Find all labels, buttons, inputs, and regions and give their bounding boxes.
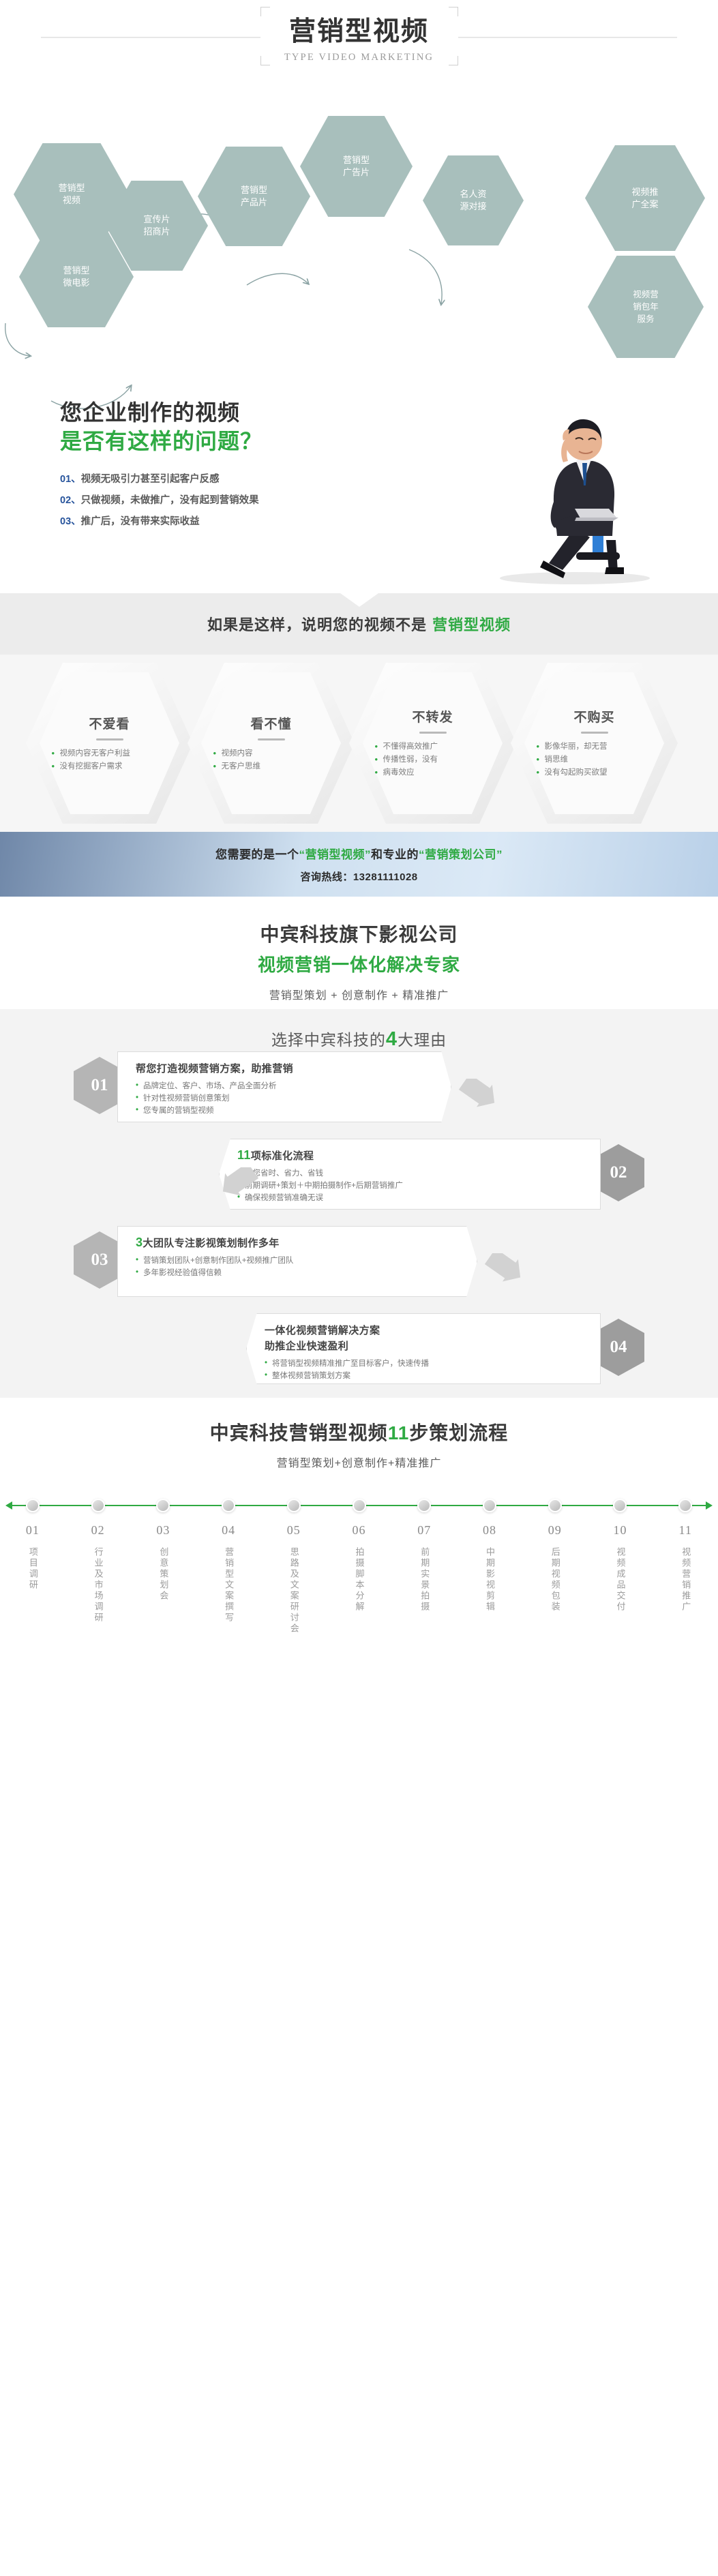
reason-title: 11项标准化流程	[237, 1148, 585, 1163]
timeline-step-label: 中期影视剪辑	[483, 1547, 496, 1613]
timeline-dot-icon	[91, 1499, 105, 1512]
timeline-step-number: 07	[391, 1523, 457, 1538]
card-divider	[419, 732, 447, 734]
reason-title-text: 大团队专注影视策划制作多年	[143, 1238, 279, 1249]
reason-card-03[interactable]: 3大团队专注影视策划制作多年 营销策划团队+创意制作团队+视频推广团队 多年影视…	[117, 1226, 477, 1297]
reason-bullet: 营销策划团队+创意制作团队+视频推广团队	[136, 1255, 462, 1267]
card-title: 不转发	[375, 707, 491, 725]
timeline-step-number: 06	[327, 1523, 392, 1538]
steps-title-b: 步策划流程	[409, 1422, 508, 1443]
flow-arrow-down-right-icon	[484, 1253, 526, 1293]
reason-title-count: 3	[136, 1235, 143, 1249]
timeline-step-label: 项目调研	[26, 1547, 40, 1591]
timeline-step-number: 10	[588, 1523, 653, 1538]
card-bullet: 无客户思维	[213, 760, 329, 773]
page-title: 营销型视频	[260, 7, 458, 51]
hex-label-line1: 视频营	[633, 288, 659, 301]
card-bullet: 传播性弱，没有	[375, 753, 491, 766]
hex-label-line1: 营销型	[241, 184, 267, 196]
problem-title-line2: 是否有这样的问题？	[60, 424, 263, 455]
steps-title: 中宾科技营销型视频11步策划流程	[0, 1418, 718, 1446]
problem-list-item: 03、推广后，没有带来实际收益	[60, 511, 259, 533]
timeline-step-label: 思路及文案研讨会	[287, 1547, 301, 1634]
card-divider	[581, 732, 608, 734]
timeline-step-label: 前期实景拍摄	[417, 1547, 431, 1613]
problem-cards-section: 不爱看 视频内容无客户利益 没有挖掘客户需求 看不懂 视频内容 无客户思维 不转…	[0, 655, 718, 832]
hex-cluster-section: 营销型 视频 宣传片 招商片 营销型 产品片 营销型 广告片 名人资	[0, 102, 718, 375]
cta-quote-video: “营销型视频”	[299, 848, 372, 861]
hex-label-line1: 名人资	[460, 188, 486, 200]
timeline-step-number: 11	[653, 1523, 718, 1538]
timeline-step-label: 视频成品交付	[613, 1547, 627, 1613]
problem-list-item: 02、只做视频，未做推广，没有起到营销效果	[60, 490, 259, 511]
problem-item-number: 02、	[60, 495, 81, 506]
hex-label-line1: 营销型	[343, 154, 370, 166]
card-title: 不购买	[537, 707, 653, 725]
problem-item-text: 只做视频，未做推广，没有起到营销效果	[81, 495, 259, 506]
card-bullet: 视频内容无客户利益	[52, 747, 168, 760]
reasons-section: 选择中宾科技的4大理由 01 帮您打造视频营销方案，助推营销 品牌定位、客户、市…	[0, 1009, 718, 1398]
timeline-dot-icon	[222, 1499, 235, 1512]
card-bullet: 没有挖掘客户需求	[52, 760, 168, 773]
timeline-step-number: 05	[261, 1523, 327, 1538]
timeline-step-label: 营销型文案撰写	[222, 1547, 235, 1623]
intro-subtitle: 营销型策划 + 创意制作 + 精准推广	[0, 986, 718, 1002]
reason-row-03: 03 3大团队专注影视策划制作多年 营销策划团队+创意制作团队+视频推广团队 多…	[0, 1226, 718, 1306]
reason-row-02: 02 11项标准化流程 帮您省时、省力、省钱 前期调研+策划＋中期拍摄制作+后期…	[0, 1139, 718, 1219]
timeline-step[interactable]: 07 前期实景拍摄	[391, 1499, 457, 1638]
reason-title: 一体化视频营销解决方案	[265, 1323, 585, 1337]
hex-label-line2: 销包年	[633, 301, 659, 313]
hex-label-line2: 视频	[58, 194, 85, 207]
timeline-dot-icon	[483, 1499, 496, 1512]
timeline-step-label: 后期视频包装	[548, 1547, 562, 1613]
reasons-heading-count: 4	[386, 1028, 398, 1050]
reason-card-02[interactable]: 11项标准化流程 帮您省时、省力、省钱 前期调研+策划＋中期拍摄制作+后期营销推…	[219, 1139, 601, 1210]
page-subtitle-en: TYPE VIDEO MARKETING	[260, 51, 458, 63]
hex-label-line1: 营销型	[63, 265, 89, 277]
reason-card-04[interactable]: 一体化视频营销解决方案 助推企业快速盈利 将营销型视频精准推广至目标客户，快速传…	[246, 1313, 601, 1384]
card-bullet-cont: 病毒效应	[375, 766, 491, 779]
timeline-step-number: 04	[196, 1523, 261, 1538]
reasons-heading-a: 选择中宾科技的	[271, 1031, 386, 1049]
cta-text-a: 您需要的是一个	[215, 848, 299, 861]
reason-bullet: 多年影视经验值得信赖	[136, 1267, 462, 1279]
timeline-dot-icon	[287, 1499, 301, 1512]
page-header: 营销型视频 TYPE VIDEO MARKETING	[0, 0, 718, 102]
marketing-landing-page: 营销型视频 TYPE VIDEO MARKETING 营销型 视频	[0, 0, 718, 1671]
reason-row-04: 04 一体化视频营销解决方案 助推企业快速盈利 将营销型视频精准推广至目标客户，…	[0, 1313, 718, 1394]
timeline-items: 01 项目调研 02 行业及市场调研 03 创意策划会 04 营销型文案撰写	[0, 1499, 718, 1638]
reason-bullet: 品牌定位、客户、市场、产品全面分析	[136, 1080, 436, 1092]
steps-section: 中宾科技营销型视频11步策划流程 营销型策划+创意制作+精准推广 01 项目调研…	[0, 1398, 718, 1671]
problem-card-not-watch[interactable]: 不爱看 视频内容无客户利益 没有挖掘客户需求	[26, 663, 193, 824]
band-text-highlight: 营销型视频	[432, 616, 511, 633]
reason-bullet: 确保视频营销准确无误	[237, 1192, 585, 1204]
reason-card-01[interactable]: 帮您打造视频营销方案，助推营销 品牌定位、客户、市场、产品全面分析 针对性视频营…	[117, 1051, 451, 1122]
hex-label-line2: 微电影	[63, 277, 89, 289]
hex-label-line1: 营销型	[58, 182, 85, 194]
timeline-step-number: 03	[130, 1523, 196, 1538]
timeline-step[interactable]: 11 视频营销推广	[653, 1499, 718, 1638]
reasons-heading-b: 大理由	[398, 1031, 447, 1049]
timeline-step-label: 拍摄脚本分解	[353, 1547, 366, 1613]
reason-title: 3大团队专注影视策划制作多年	[136, 1235, 462, 1250]
card-bullet: 视频内容	[213, 747, 329, 760]
card-title: 不爱看	[52, 714, 168, 732]
timeline-step[interactable]: 05 思路及文案研讨会	[261, 1499, 327, 1638]
card-title: 看不懂	[213, 714, 329, 732]
cta-text-b: 和专业的	[371, 848, 419, 861]
problem-list-item: 01、视频无吸引力甚至引起客户反感	[60, 469, 259, 490]
card-bullet: 没有勾起购买欲望	[537, 766, 653, 779]
reason-title-count: 11	[237, 1148, 251, 1162]
reason-bullet: 将营销型视频精准推广至目标客户，快速传播	[265, 1358, 585, 1370]
reason-bullet: 帮您省时、省力、省钱	[237, 1167, 585, 1180]
timeline-step-number: 02	[65, 1523, 131, 1538]
timeline-step[interactable]: 08 中期影视剪辑	[457, 1499, 522, 1638]
timeline-step[interactable]: 09 后期视频包装	[522, 1499, 588, 1638]
problem-title-line1: 您企业制作的视频	[60, 395, 240, 427]
hex-label-line1: 宣传片	[143, 213, 170, 226]
reason-bullet: 整体视频营销策划方案	[265, 1370, 585, 1382]
cta-quote-company: “营销策划公司”	[419, 848, 503, 861]
corner-mark-bottom-left-icon	[260, 56, 270, 65]
problem-card-not-understand[interactable]: 看不懂 视频内容 无客户思维	[188, 663, 355, 824]
hex-ad-film[interactable]: 营销型 广告片	[300, 116, 413, 217]
timeline-step-label: 视频营销推广	[678, 1547, 692, 1613]
reason-row-01: 01 帮您打造视频营销方案，助推营销 品牌定位、客户、市场、产品全面分析 针对性…	[0, 1051, 718, 1132]
reason-title-2: 助推企业快速盈利	[265, 1338, 585, 1353]
hex-label-line2: 广全案	[631, 198, 658, 211]
card-divider	[258, 738, 285, 740]
reason-title: 帮您打造视频营销方案，助推营销	[136, 1061, 436, 1075]
timeline-step[interactable]: 02 行业及市场调研	[65, 1499, 131, 1638]
timeline-dot-icon	[156, 1499, 170, 1512]
cta-banner: 您需要的是一个“营销型视频”和专业的“营销策划公司” 咨询热线：13281111…	[0, 832, 718, 897]
timeline-step-number: 09	[522, 1523, 588, 1538]
problem-card-not-buy[interactable]: 不购买 影像华丽，却无营 销思维 没有勾起购买欲望	[511, 663, 678, 824]
timeline-step-number: 08	[457, 1523, 522, 1538]
conclusion-band: 如果是这样，说明您的视频不是营销型视频	[0, 593, 718, 655]
corner-mark-bottom-right-icon	[449, 56, 458, 65]
businessman-photo	[473, 382, 677, 586]
timeline-step-label: 创意策划会	[156, 1547, 170, 1602]
reason-bullet: 前期调研+策划＋中期拍摄制作+后期营销推广	[237, 1180, 585, 1192]
hex-label-line1: 视频推	[631, 186, 658, 198]
steps-title-count: 11	[388, 1422, 410, 1443]
timeline-step[interactable]: 04 营销型文案撰写	[196, 1499, 261, 1638]
card-bullet: 影像华丽，却无营	[537, 740, 653, 753]
timeline-dot-icon	[613, 1499, 627, 1512]
hex-label-line2: 招商片	[143, 226, 170, 238]
band-text: 如果是这样，说明您的视频不是营销型视频	[207, 613, 511, 635]
steps-subtitle: 营销型策划+创意制作+精准推广	[0, 1454, 718, 1470]
card-bullet: 不懂得高效推广	[375, 740, 491, 753]
steps-title-a: 中宾科技营销型视频	[210, 1422, 388, 1443]
problem-item-text: 视频无吸引力甚至引起客户反感	[81, 474, 220, 485]
problem-card-not-share[interactable]: 不转发 不懂得高效推广 传播性弱，没有 病毒效应	[349, 663, 516, 824]
timeline-step[interactable]: 03 创意策划会	[130, 1499, 196, 1638]
intro-title-2: 视频营销一体化解决专家	[0, 951, 718, 976]
card-divider	[96, 738, 123, 740]
timeline-dot-icon	[548, 1499, 562, 1512]
cta-headline: 您需要的是一个“营销型视频”和专业的“营销策划公司”	[215, 845, 503, 862]
timeline-step[interactable]: 01 项目调研	[0, 1499, 65, 1638]
problem-item-number: 03、	[60, 516, 81, 527]
problem-item-text: 推广后，没有带来实际收益	[81, 516, 200, 527]
reason-bullet: 针对性视频营销创意策划	[136, 1092, 436, 1105]
header-title-box: 营销型视频 TYPE VIDEO MARKETING	[260, 7, 458, 65]
steps-timeline: 01 项目调研 02 行业及市场调研 03 创意策划会 04 营销型文案撰写	[0, 1499, 718, 1669]
hex-label-line3: 服务	[633, 313, 659, 325]
timeline-dot-icon	[26, 1499, 40, 1512]
reason-bullet: 您专属的营销型视频	[136, 1105, 436, 1117]
corner-mark-top-right-icon	[449, 7, 458, 16]
problem-item-number: 01、	[60, 474, 81, 485]
timeline-step-number: 01	[0, 1523, 65, 1538]
timeline-dot-icon	[417, 1499, 431, 1512]
cta-hotline[interactable]: 咨询热线：13281111028	[300, 869, 417, 884]
timeline-dot-icon	[678, 1499, 692, 1512]
problem-section: 您企业制作的视频 是否有这样的问题？ 01、视频无吸引力甚至引起客户反感 02、…	[0, 375, 718, 593]
flow-arrow-down-left-icon	[217, 1167, 259, 1207]
problem-list: 01、视频无吸引力甚至引起客户反感 02、只做视频，未做推广，没有起到营销效果 …	[60, 469, 259, 533]
hex-label-line2: 源对接	[460, 200, 486, 213]
hex-label-line2: 产品片	[241, 196, 267, 209]
timeline-step-label: 行业及市场调研	[91, 1547, 105, 1623]
flow-arrow-down-right-icon	[458, 1079, 500, 1118]
band-notch-icon	[340, 593, 378, 607]
corner-mark-top-left-icon	[260, 7, 270, 16]
card-bullet-cont: 销思维	[537, 753, 653, 766]
band-text-main: 如果是这样，说明您的视频不是	[207, 616, 427, 633]
timeline-dot-icon	[353, 1499, 366, 1512]
reasons-heading: 选择中宾科技的4大理由	[0, 1027, 718, 1051]
intro-title-1: 中宾科技旗下影视公司	[0, 920, 718, 947]
hex-label-line2: 广告片	[343, 166, 370, 179]
company-intro-section: 中宾科技旗下影视公司 视频营销一体化解决专家 营销型策划 + 创意制作 + 精准…	[0, 897, 718, 1009]
timeline-step[interactable]: 10 视频成品交付	[588, 1499, 653, 1638]
reason-title-text: 项标准化流程	[251, 1150, 314, 1162]
timeline-step[interactable]: 06 拍摄脚本分解	[327, 1499, 392, 1638]
